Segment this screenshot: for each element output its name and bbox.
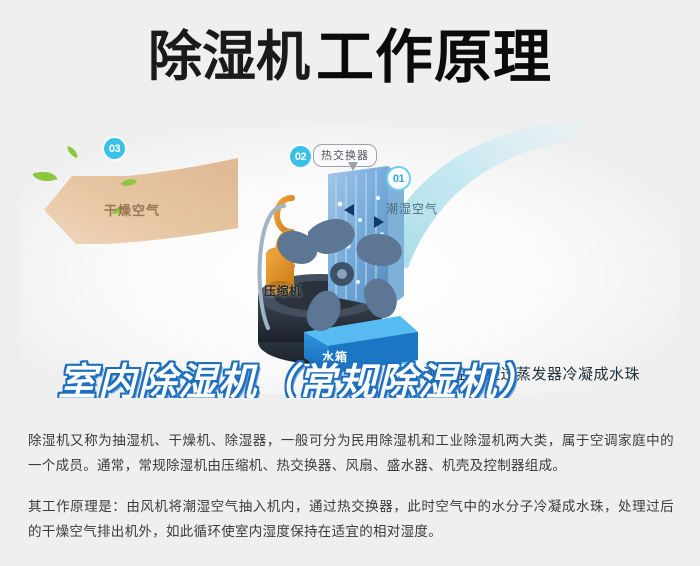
page-title-part-a: 除湿机 — [148, 30, 310, 84]
dry-air-label: 干燥空气 — [104, 200, 160, 219]
legend-number: 03 — [393, 396, 416, 399]
dehumidifier-diagram: 03 干燥空气 02 热交换器 01 潮湿空气 压缩机 水箱 02 潮湿空气经过… — [0, 118, 700, 398]
article-body: 除湿机又称为抽湿机、干燥机、除湿器，一般可分为民用除湿机和工业除湿机两大类，属于… — [28, 414, 674, 557]
compressor-label: 压缩机 — [264, 282, 302, 299]
legend-label: 潮湿空气经过蒸发器冷凝成水珠 — [423, 363, 640, 384]
water-tank-label: 水箱 — [322, 348, 348, 365]
diagram-number-heat-exchanger: 02 — [290, 146, 311, 167]
legend-item: 03 从上部出风口吹出清新干爽空气 — [393, 390, 693, 398]
page-title: 除湿机 工作原理 — [0, 18, 700, 96]
humid-air-label: 潮湿空气 — [386, 200, 438, 217]
diagram-number-humid-air: 01 — [386, 166, 411, 191]
page-title-part-b: 工作原理 — [316, 28, 552, 86]
legend-number: 02 — [393, 362, 416, 385]
legend-item: 02 潮湿空气经过蒸发器冷凝成水珠 — [393, 356, 693, 390]
heat-exchanger-callout: 热交换器 — [313, 144, 377, 167]
paragraph-principle: 其工作原理是：由风机将潮湿空气抽入机内，通过热交换器，此时空气中的水分子冷凝成水… — [28, 494, 674, 544]
diagram-legend: 02 潮湿空气经过蒸发器冷凝成水珠 03 从上部出风口吹出清新干爽空气 — [393, 356, 693, 398]
diagram-number-dry-air: 03 — [104, 138, 125, 159]
legend-label: 从上部出风口吹出清新干爽空气 — [423, 397, 640, 399]
paragraph-definition: 除湿机又称为抽湿机、干燥机、除湿器，一般可分为民用除湿机和工业除湿机两大类，属于… — [28, 428, 674, 478]
infographic-page: 除湿机 工作原理 — [0, 0, 700, 566]
callout-tail-icon — [348, 162, 358, 171]
